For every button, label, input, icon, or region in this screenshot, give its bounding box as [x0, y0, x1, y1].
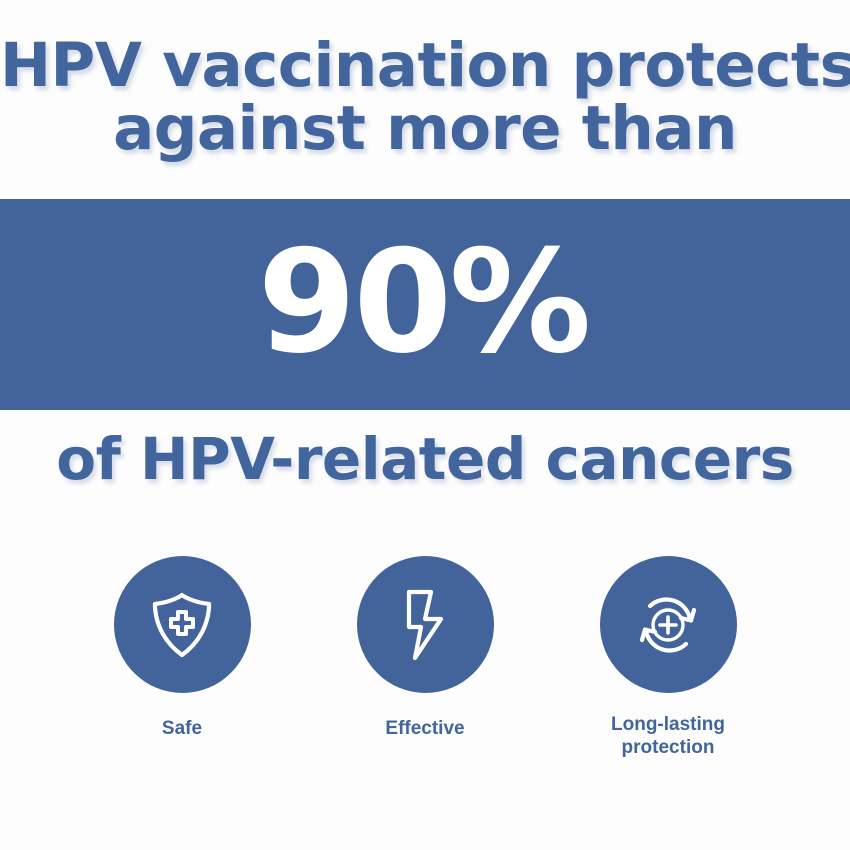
statistic-band: 90%	[0, 199, 850, 410]
hpv-vaccination-infographic: HPV vaccination protects against more th…	[0, 0, 850, 850]
benefit-icon-circle	[600, 556, 737, 693]
benefit-icon-circle	[114, 556, 251, 693]
headline-line-1: HPV vaccination protects	[0, 34, 850, 97]
refresh-plus-icon	[632, 589, 704, 661]
headline-line-2: against more than	[0, 97, 850, 160]
subheadline: of HPV-related cancers	[0, 428, 850, 490]
benefits-row: Safe Effective	[0, 556, 850, 759]
benefit-label: Effective	[385, 717, 464, 740]
benefit-label: Safe	[162, 717, 202, 740]
benefit-item-effective: Effective	[357, 556, 494, 740]
benefit-item-safe: Safe	[114, 556, 251, 740]
statistic-value: 90%	[258, 232, 589, 374]
page-title: HPV vaccination protects against more th…	[0, 0, 850, 160]
shield-cross-icon	[149, 590, 215, 660]
benefit-item-long-lasting: Long-lasting protection	[600, 556, 737, 759]
benefit-icon-circle	[357, 556, 494, 693]
lightning-bolt-icon	[397, 589, 453, 661]
benefit-label: Long-lasting protection	[611, 713, 725, 759]
